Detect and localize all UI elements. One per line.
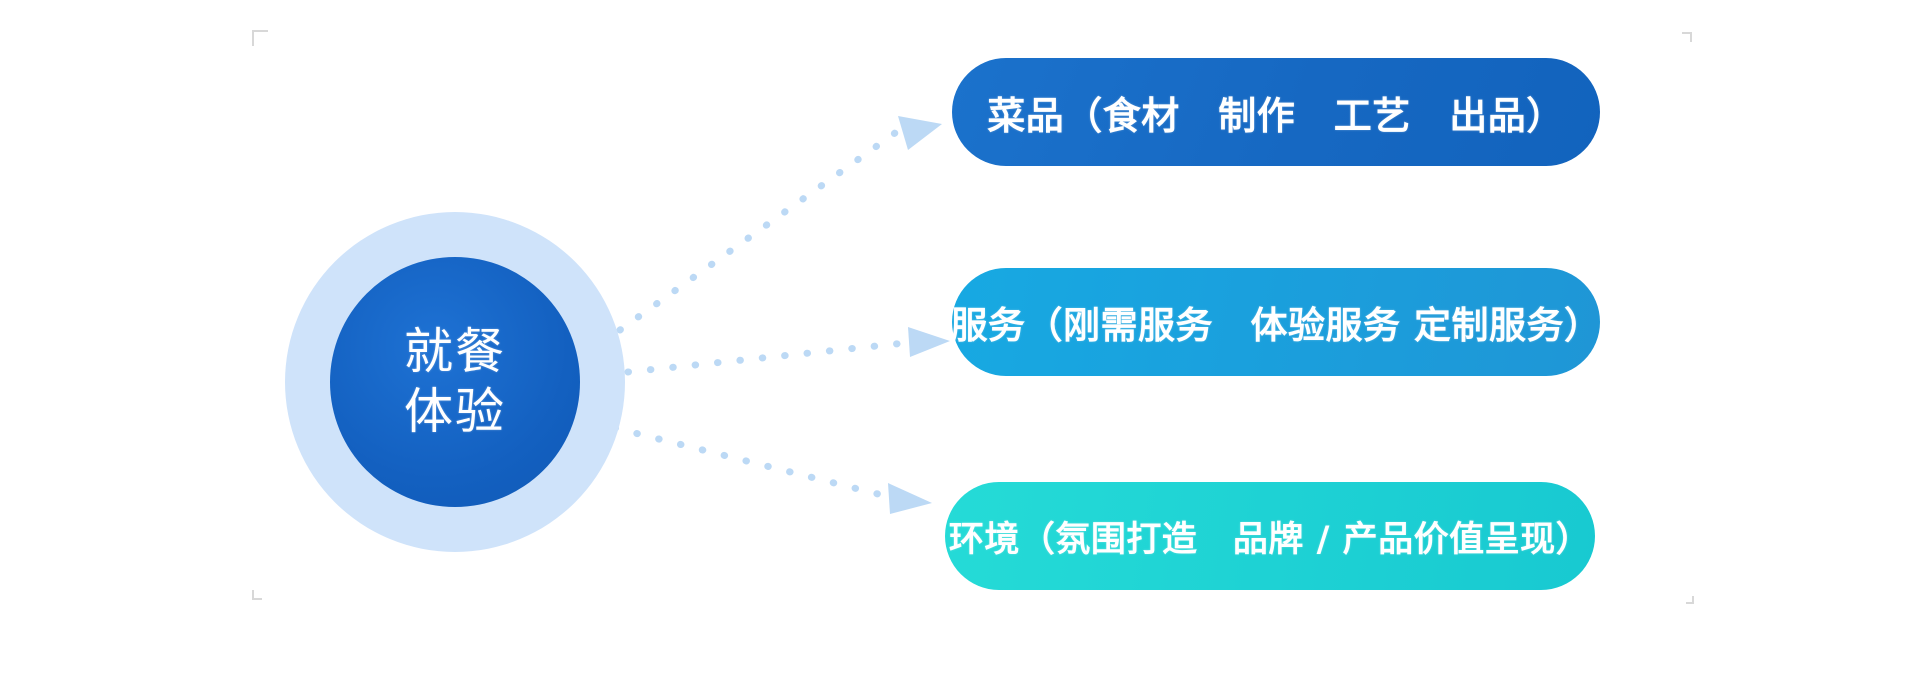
hub-label-line-1: 就餐 <box>404 322 506 382</box>
branch-pill-label-dishes: 菜品（食材 制作 工艺 出品） <box>987 85 1565 140</box>
connector-path-1 <box>620 133 895 330</box>
branch-pill-label-environment: 环境（氛围打造 品牌 / 产品价值呈现） <box>949 511 1591 562</box>
connector-path-2 <box>628 343 905 372</box>
crop-mark-bottom-right <box>1672 582 1694 604</box>
arrowhead-icon-2 <box>908 327 950 357</box>
crop-mark-top-left <box>252 30 274 52</box>
crop-mark-top-right <box>1670 32 1692 54</box>
arrowhead-icon-3 <box>888 483 932 514</box>
connector-path-3 <box>615 428 890 497</box>
diagram-canvas: 就餐 体验 菜品（食材 制作 工艺 出品） 服务（刚需服务 体验服务 定制服务）… <box>0 0 1920 700</box>
hub-outer-ring: 就餐 体验 <box>285 212 625 552</box>
branch-pill-dishes[interactable]: 菜品（食材 制作 工艺 出品） <box>952 58 1600 166</box>
branch-pill-environment[interactable]: 环境（氛围打造 品牌 / 产品价值呈现） <box>945 482 1595 590</box>
hub-circle[interactable]: 就餐 体验 <box>330 257 580 507</box>
branch-pill-service[interactable]: 服务（刚需服务 体验服务 定制服务） <box>952 268 1600 376</box>
branch-pill-label-service: 服务（刚需服务 体验服务 定制服务） <box>951 295 1602 349</box>
hub-label-line-2: 体验 <box>404 382 506 442</box>
arrowhead-icon-1 <box>898 116 942 150</box>
crop-mark-bottom-left <box>252 578 274 600</box>
